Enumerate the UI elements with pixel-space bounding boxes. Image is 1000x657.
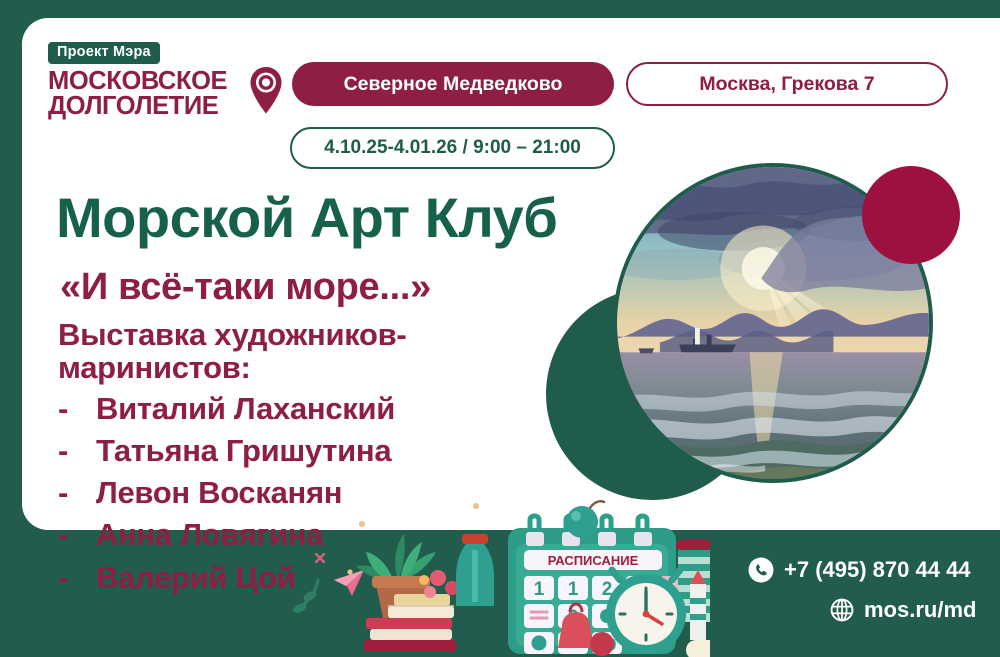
list-bullet: -: [58, 388, 96, 430]
project-badge: Проект Мэра: [48, 42, 160, 64]
svg-text:1: 1: [568, 579, 579, 600]
brand-name-line2: ДОЛГОЛЕТИЕ: [48, 95, 238, 119]
list-item: - Татьяна Гришутина: [58, 430, 528, 472]
badge-schedule: 4.10.25-4.01.26 / 9:00 – 21:00: [290, 127, 615, 169]
list-bullet: -: [58, 472, 96, 514]
svg-text:1: 1: [534, 579, 545, 600]
poster: Проект Мэра МОСКОВСКОЕ ДОЛГОЛЕТИЕ Северн…: [0, 0, 1000, 657]
phone-icon: [748, 557, 774, 583]
artist-name: Валерий Цой: [96, 557, 296, 599]
website-url: mos.ru/md: [864, 597, 976, 623]
badge-address: Москва, Грекова 7: [626, 62, 948, 106]
phone-number: +7 (495) 870 44 44: [784, 557, 971, 583]
brand-logo: Проект Мэра МОСКОВСКОЕ ДОЛГОЛЕТИЕ: [48, 42, 238, 119]
calendar-title: РАСПИСАНИЕ: [548, 553, 639, 568]
contact-phone[interactable]: +7 (495) 870 44 44: [748, 557, 971, 583]
contact-website[interactable]: mos.ru/md: [830, 597, 976, 623]
brand-name-line1: МОСКОВСКОЕ: [48, 70, 238, 94]
page-title: Морской Арт Клуб: [56, 190, 557, 246]
exhibition-subtitle: «И всё-таки море...»: [60, 268, 431, 306]
artist-name: Виталий Лаханский: [96, 388, 395, 430]
illustration-cluster: РАСПИСАНИЕ 1 1 2 3 6: [290, 488, 710, 657]
list-item: - Виталий Лаханский: [58, 388, 528, 430]
map-pin-icon: [248, 66, 284, 114]
artist-name: Татьяна Гришутина: [96, 430, 391, 472]
list-bullet: -: [58, 514, 96, 556]
badge-district: Северное Медведково: [292, 62, 614, 106]
list-bullet: -: [58, 557, 96, 599]
list-bullet: -: [58, 430, 96, 472]
exhibition-lead: Выставка художников-маринистов:: [58, 318, 488, 385]
globe-icon: [830, 598, 854, 622]
decor-circle-crimson: [862, 166, 960, 264]
